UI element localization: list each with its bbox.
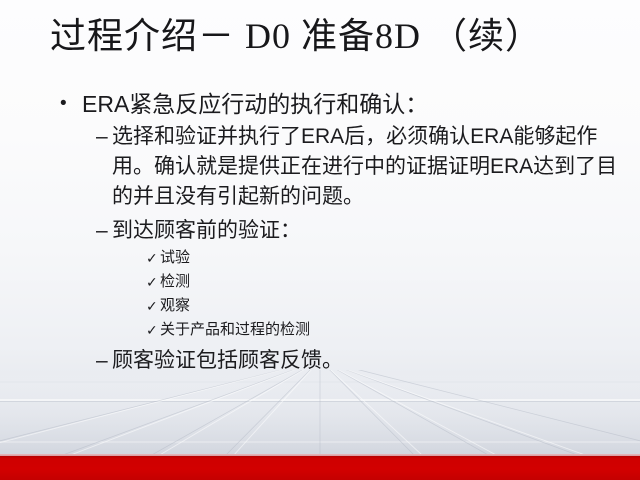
sub-bullet-label: 选择和验证并执行了ERA后，必须确认ERA能够起作用。确认就是提供正在进行中的证…: [112, 122, 624, 212]
list-item: ✓ 检测: [0, 270, 640, 294]
check-list: ✓ 试验 ✓ 检测 ✓ 观察 ✓ 关于产品和过程的检测: [0, 246, 640, 342]
check-item-label: 关于产品和过程的检测: [160, 321, 310, 338]
check-item-label: 检测: [160, 273, 190, 290]
check-icon: ✓: [146, 270, 158, 294]
list-item: ✓ 观察: [0, 294, 640, 318]
list-item: ✓ 关于产品和过程的检测: [0, 318, 640, 342]
bullet-item-heading: • ERA紧急反应行动的执行和确认：: [0, 88, 640, 120]
check-item-label: 观察: [160, 297, 190, 314]
sub-bullet-label: 顾客验证包括顾客反馈。: [112, 346, 624, 376]
list-item: ✓ 试验: [0, 246, 640, 270]
check-icon: ✓: [146, 246, 158, 270]
sub-bullet-label: 到达顾客前的验证：: [112, 216, 624, 246]
dash-icon: –: [96, 122, 108, 152]
check-item-label: 试验: [160, 249, 190, 266]
bullet-icon: •: [60, 88, 67, 120]
dash-icon: –: [96, 346, 108, 376]
sub-bullet-item-3: – 顾客验证包括顾客反馈。: [0, 346, 640, 376]
page-title: 过程介绍－ D0 准备8D （续）: [50, 14, 610, 58]
check-icon: ✓: [146, 318, 158, 342]
bullet-heading-label: ERA紧急反应行动的执行和确认：: [82, 91, 428, 117]
slide-canvas: 过程介绍－ D0 准备8D （续） • ERA紧急反应行动的执行和确认： – 选…: [0, 0, 640, 480]
perspective-floor-decoration: [0, 370, 640, 456]
slide-body: • ERA紧急反应行动的执行和确认： – 选择和验证并执行了ERA后，必须确认E…: [0, 88, 640, 376]
sub-bullet-item-2: – 到达顾客前的验证：: [0, 216, 640, 246]
floor-grid-svg: [0, 370, 640, 456]
check-icon: ✓: [146, 294, 158, 318]
dash-icon: –: [96, 216, 108, 246]
footer-red-band: [0, 456, 640, 480]
sub-bullet-item-1: – 选择和验证并执行了ERA后，必须确认ERA能够起作用。确认就是提供正在进行中…: [0, 122, 640, 212]
